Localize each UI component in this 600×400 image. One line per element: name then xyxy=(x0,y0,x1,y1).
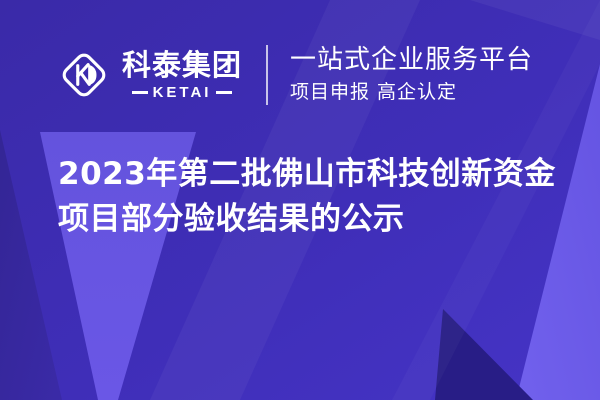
ketai-diamond-kd-monogram-icon xyxy=(58,49,110,101)
logo-chinese-name: 科泰集团 xyxy=(122,51,242,80)
tagline-main: 一站式企业服务平台 xyxy=(290,46,533,76)
page-title: 2023年第二批佛山市科技创新资金 项目部分验收结果的公示 xyxy=(58,152,558,242)
tagline-sub: 项目申报 高企认定 xyxy=(290,82,533,104)
banner-header: 科泰集团 KETAI 一站式企业服务平台 项目申报 高企认定 xyxy=(0,0,600,150)
logo-wordmark: 科泰集团 KETAI xyxy=(122,51,242,100)
brand-logo[interactable]: 科泰集团 KETAI xyxy=(58,49,242,101)
page-title-line-1: 2023年第二批佛山市科技创新资金 xyxy=(58,152,558,197)
dash-rule-left-icon xyxy=(132,91,148,94)
page-title-line-2: 项目部分验收结果的公示 xyxy=(58,197,558,242)
dash-rule-right-icon xyxy=(216,91,232,94)
logo-english-row: KETAI xyxy=(122,85,242,100)
vertical-divider-icon xyxy=(266,45,268,105)
tagline-block: 一站式企业服务平台 项目申报 高企认定 xyxy=(290,46,533,104)
background-navy-triangle xyxy=(435,309,533,400)
promo-banner: 科泰集团 KETAI 一站式企业服务平台 项目申报 高企认定 2023年第二批佛… xyxy=(0,0,600,400)
logo-english-name: KETAI xyxy=(153,85,212,100)
background-left-dark-wedge xyxy=(0,130,62,400)
